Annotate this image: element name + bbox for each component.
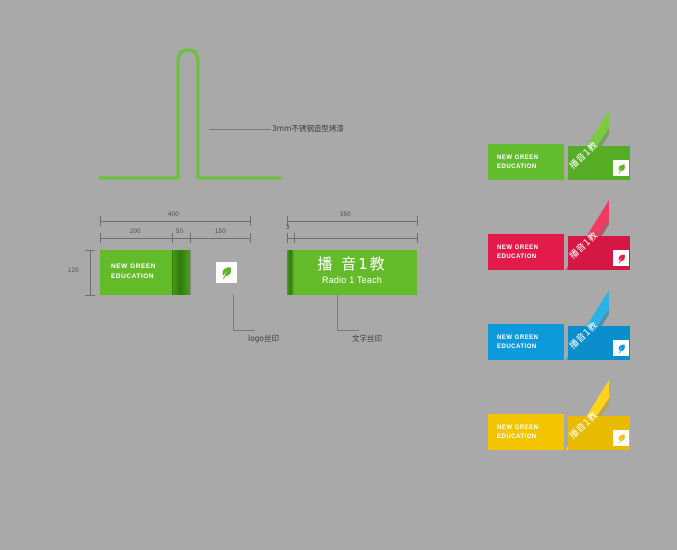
logo-plate (613, 340, 629, 356)
leaf-icon (616, 163, 627, 174)
dim-tick (172, 233, 173, 243)
dim-tick (417, 233, 418, 243)
dim-tick (417, 216, 418, 226)
base-sign-panel: NEW GREEN EDUCATION (488, 234, 564, 270)
dim-height-label: 120 (68, 268, 79, 274)
dim-segments-line (100, 238, 250, 239)
brand-line-2: EDUCATION (497, 343, 539, 352)
logo-plate (613, 430, 629, 446)
panel-fold-section (172, 250, 190, 295)
brand-line-1: NEW GREEN (497, 424, 539, 433)
panel-seam (190, 250, 191, 295)
brand-text-block: NEW GREEN EDUCATION (497, 244, 539, 262)
perspective-variant-green: NEW GREEN EDUCATION 播音1教 (488, 110, 638, 188)
panel-seam (172, 250, 173, 295)
text-callout-leader (337, 295, 338, 330)
brand-line-1: NEW GREEN (111, 262, 156, 272)
brand-line-2: EDUCATION (497, 163, 539, 172)
dim-overall-label: 350 (340, 212, 351, 218)
brand-line-2: EDUCATION (497, 253, 539, 262)
brand-line-2: EDUCATION (497, 433, 539, 442)
elevation-logo-panel: NEW GREEN EDUCATION (100, 250, 250, 295)
profile-outline-icon (96, 42, 366, 187)
dim-overall-line (287, 221, 417, 222)
sign-cn-title: 播 音1教 (287, 256, 417, 273)
dim-tick (294, 233, 295, 243)
logo-silkscreen-label: logo丝印 (248, 333, 279, 344)
base-sign-panel: NEW GREEN EDUCATION (488, 414, 564, 450)
brand-line-2: EDUCATION (111, 272, 156, 282)
dim-tick (190, 233, 191, 243)
dim-thickness-line (287, 238, 417, 239)
sign-en-title: Radio 1 Teach (287, 275, 417, 285)
logo-callout-leader (233, 295, 234, 330)
dim-overall-line (100, 221, 250, 222)
annotation-leader-line (209, 129, 271, 130)
perspective-variant-yellow: NEW GREEN EDUCATION 播音1教 (488, 380, 638, 458)
text-callout-leader (337, 330, 359, 331)
dim-height-line (90, 250, 91, 295)
dim-tick (250, 233, 251, 243)
brand-text-block: NEW GREEN EDUCATION (497, 154, 539, 172)
logo-callout-leader (233, 330, 255, 331)
dim-tick (100, 233, 101, 243)
logo-plate (613, 160, 629, 176)
dim-tick (85, 295, 95, 296)
dim-segment-label: 50 (176, 229, 183, 235)
dim-tick (250, 216, 251, 226)
leaf-icon (616, 433, 627, 444)
dim-tick (85, 250, 95, 251)
perspective-variant-red: NEW GREEN EDUCATION 播音1教 (488, 200, 638, 278)
dim-tick (100, 216, 101, 226)
design-canvas: 3mm不锈钢造型烤漆 400 200 50 150 120 NEW GREEN … (0, 0, 677, 550)
elevation-text-panel: 播 音1教 Radio 1 Teach (287, 250, 417, 295)
brand-line-1: NEW GREEN (497, 244, 539, 253)
dim-segment-label: 150 (215, 229, 226, 235)
dim-tick (287, 233, 288, 243)
section-profile-drawing: 3mm不锈钢造型烤漆 (96, 42, 366, 187)
dim-segment-label: 200 (130, 229, 141, 235)
logo-plate (216, 262, 237, 283)
dim-overall-label: 400 (168, 212, 179, 218)
brand-text-block: NEW GREEN EDUCATION (111, 262, 156, 282)
logo-plate (613, 250, 629, 266)
base-sign-panel: NEW GREEN EDUCATION (488, 144, 564, 180)
leaf-icon (616, 343, 627, 354)
brand-line-1: NEW GREEN (497, 334, 539, 343)
brand-line-1: NEW GREEN (497, 154, 539, 163)
brand-text-block: NEW GREEN EDUCATION (497, 424, 539, 442)
profile-annotation-label: 3mm不锈钢造型烤漆 (272, 123, 344, 134)
base-sign-panel: NEW GREEN EDUCATION (488, 324, 564, 360)
dim-thickness-label: 3 (286, 225, 290, 231)
brand-text-block: NEW GREEN EDUCATION (497, 334, 539, 352)
perspective-variant-blue: NEW GREEN EDUCATION 播音1教 (488, 290, 638, 368)
text-silkscreen-label: 文字丝印 (352, 333, 382, 344)
leaf-icon (219, 265, 234, 280)
leaf-icon (616, 253, 627, 264)
